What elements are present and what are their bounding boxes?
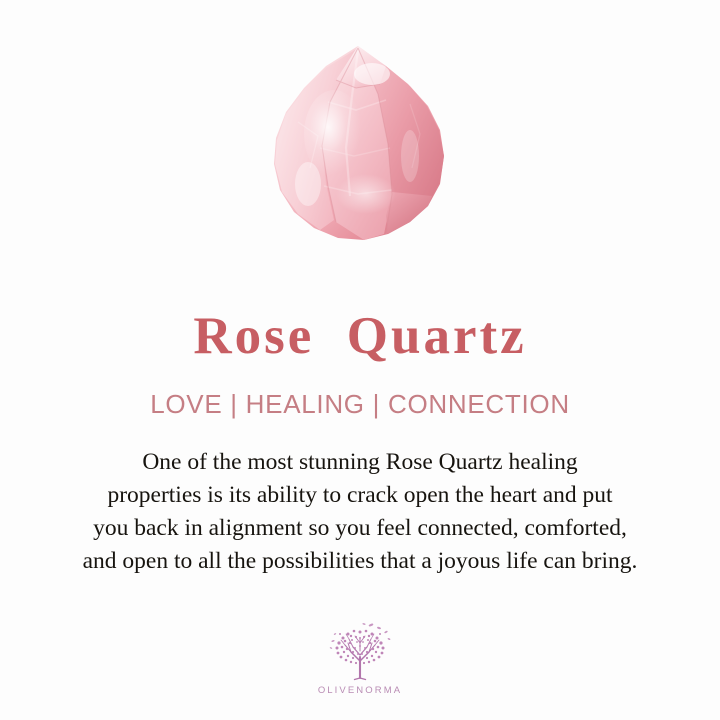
- description-paragraph: One of the most stunning Rose Quartz hea…: [24, 420, 696, 578]
- description-line: you back in alignment so you feel connec…: [24, 512, 696, 545]
- tree-of-life-icon: [323, 621, 397, 683]
- rose-quartz-crystal-photo: [260, 44, 460, 246]
- tree-branches: [341, 634, 379, 680]
- hero-image-container: [0, 0, 720, 262]
- crystal-highlight-lower: [336, 174, 396, 214]
- brand-name: OLIVENORMA: [318, 683, 402, 696]
- description-line: properties is its ability to crack open …: [24, 479, 696, 512]
- page-title: Rose Quartz: [193, 262, 526, 363]
- crystal-highlight-left: [295, 162, 321, 206]
- description-line: and open to all the possibilities that a…: [24, 545, 696, 578]
- crystal-highlight-apex: [354, 63, 390, 85]
- crystal-highlight-right: [401, 130, 419, 182]
- keyword-subtitle: LOVE | HEALING | CONNECTION: [150, 363, 570, 420]
- rose-quartz-infographic: Rose Quartz LOVE | HEALING | CONNECTION …: [0, 0, 720, 720]
- description-line: One of the most stunning Rose Quartz hea…: [24, 446, 696, 479]
- brand-logo: OLIVENORMA: [318, 621, 402, 720]
